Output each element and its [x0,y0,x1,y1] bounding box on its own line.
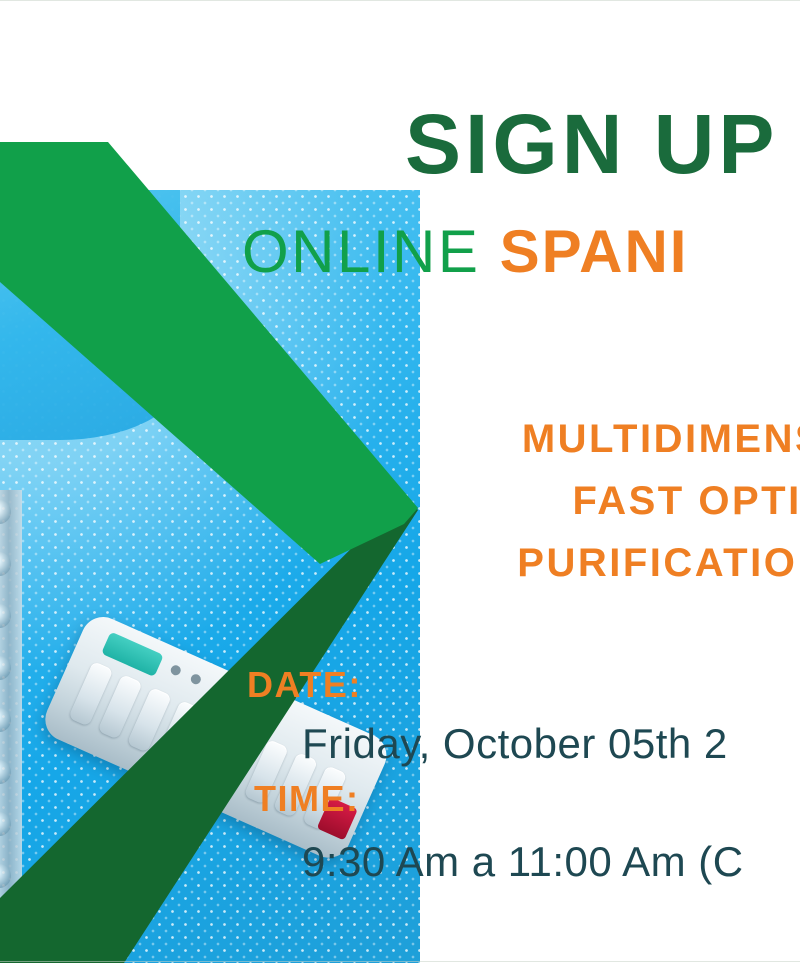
topic-line-1: MULTIDIMENS [416,408,800,470]
topic-line-3: PURIFICATION [416,532,800,594]
bottom-edge-rule [0,961,800,962]
topic-block: MULTIDIMENS FAST OPTIM PURIFICATION [230,408,800,594]
subtitle-lead: ONLINE [242,218,500,285]
subtitle-accent: SPANI [500,218,689,285]
date-value: Friday, October 05th 2 [302,714,800,774]
subtitle: ONLINE SPANI [242,222,688,282]
event-details: DATE: Friday, October 05th 2 TIME: 9:30 … [230,662,800,892]
time-label: TIME: [254,776,800,822]
date-label: DATE: [247,662,800,708]
page-title: SIGN UP [405,102,778,186]
time-value: 9:30 Am a 11:00 Am (C [302,832,800,892]
content-column: SIGN UP ONLINE SPANI MULTIDIMENS FAST OP… [230,0,800,963]
webinar-banner: SIGN UP ONLINE SPANI MULTIDIMENS FAST OP… [0,0,800,963]
topic-line-2: FAST OPTIM [480,470,800,532]
